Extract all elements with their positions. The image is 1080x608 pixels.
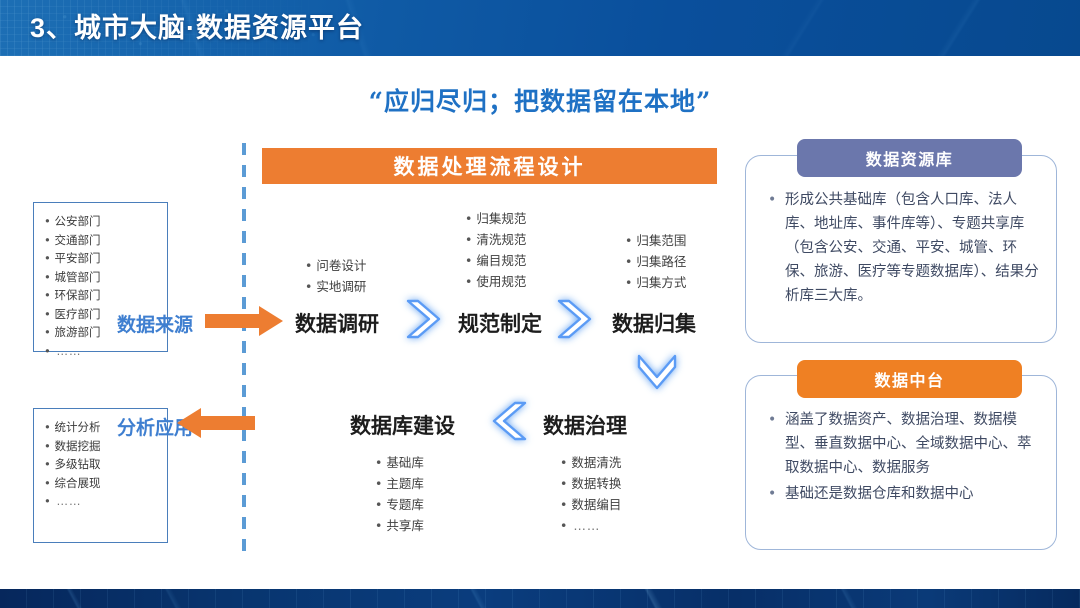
list-item: 环保部门: [44, 286, 167, 305]
data-middle-platform-bullets: 涵盖了数据资产、数据治理、数据模型、垂直数据中心、全域数据中心、萃取数据中心、数…: [763, 408, 1045, 508]
list-item: 问卷设计: [305, 255, 366, 276]
list-item: 归集方式: [625, 272, 686, 293]
chevron-left-glyph: [485, 400, 533, 442]
list-item: 主题库: [375, 473, 424, 494]
list-item: 清洗规范: [465, 229, 526, 250]
arrow-shaft: [205, 314, 261, 328]
list-item: 数据编目: [560, 494, 621, 515]
list-item: ……: [560, 515, 621, 536]
list-item: 编目规范: [465, 250, 526, 271]
list-item: 归集范围: [625, 230, 686, 251]
list-item: 多级钻取: [44, 455, 167, 474]
footer-decoration-strip: [0, 589, 1080, 608]
stage-1-bullets: 问卷设计 实地调研: [305, 255, 366, 297]
data-source-label: 数据来源: [117, 310, 193, 337]
list-item: 城管部门: [44, 268, 167, 287]
arrow-shaft: [199, 416, 255, 430]
slide-canvas: 3、城市大脑·数据资源平台 “应归尽归；把数据留在本地” 公安部门 交通部门 平…: [0, 0, 1080, 608]
page-title: 3、城市大脑·数据资源平台: [30, 8, 364, 48]
chevron-left-icon: [485, 400, 533, 447]
chevron-down-glyph: [635, 352, 679, 400]
list-item: 数据清洗: [560, 452, 621, 473]
list-item: 综合展现: [44, 474, 167, 493]
list-item: 归集规范: [465, 208, 526, 229]
chevron-right-glyph: [555, 298, 603, 340]
arrow-right-icon: [205, 306, 283, 336]
list-item: ……: [44, 342, 167, 361]
arrow-left-icon: [177, 408, 255, 438]
list-item: 共享库: [375, 515, 424, 536]
stage-5-title: 数据治理: [543, 410, 627, 440]
arrow-head: [259, 306, 283, 336]
list-item: 形成公共基础库（包含人口库、法人库、地址库、事件库等）、专题共享库（包含公安、交…: [763, 188, 1045, 308]
list-item: 使用规范: [465, 271, 526, 292]
data-resource-repository-title: 数据资源库: [797, 139, 1022, 177]
list-item: 数据转换: [560, 473, 621, 494]
list-item: 基础还是数据仓库和数据中心: [763, 482, 1045, 506]
data-middle-platform-title: 数据中台: [797, 360, 1022, 398]
stage-4-bullets: 基础库 主题库 专题库 共享库: [375, 452, 424, 536]
stage-5-bullets: 数据清洗 数据转换 数据编目 ……: [560, 452, 621, 536]
list-item: 实地调研: [305, 276, 366, 297]
data-resource-repository-bullets: 形成公共基础库（包含人口库、法人库、地址库、事件库等）、专题共享库（包含公安、交…: [763, 188, 1045, 310]
chevron-down-icon: [635, 352, 679, 405]
process-banner: 数据处理流程设计: [262, 148, 717, 184]
stage-3-title: 数据归集: [612, 308, 696, 338]
chevron-right-glyph: [404, 298, 452, 340]
list-item: 公安部门: [44, 212, 167, 231]
list-item: ……: [44, 492, 167, 511]
chevron-right-icon: [555, 298, 603, 345]
stage-3-bullets: 归集范围 归集路径 归集方式: [625, 230, 686, 293]
list-item: 基础库: [375, 452, 424, 473]
vertical-dashed-divider: [242, 143, 246, 551]
chevron-right-icon: [404, 298, 452, 345]
stage-1-title: 数据调研: [295, 308, 379, 338]
arrow-head: [177, 408, 201, 438]
list-item: 交通部门: [44, 231, 167, 250]
list-item: 专题库: [375, 494, 424, 515]
stage-2-bullets: 归集规范 清洗规范 编目规范 使用规范: [465, 208, 526, 292]
list-item: 归集路径: [625, 251, 686, 272]
stage-4-title: 数据库建设: [350, 410, 455, 440]
slide-subtitle-quote: “应归尽归；把数据留在本地”: [0, 82, 1080, 118]
stage-2-title: 规范制定: [458, 308, 542, 338]
list-item: 平安部门: [44, 249, 167, 268]
list-item: 涵盖了数据资产、数据治理、数据模型、垂直数据中心、全域数据中心、萃取数据中心、数…: [763, 408, 1045, 480]
footer-tech-pattern: [0, 589, 1080, 608]
